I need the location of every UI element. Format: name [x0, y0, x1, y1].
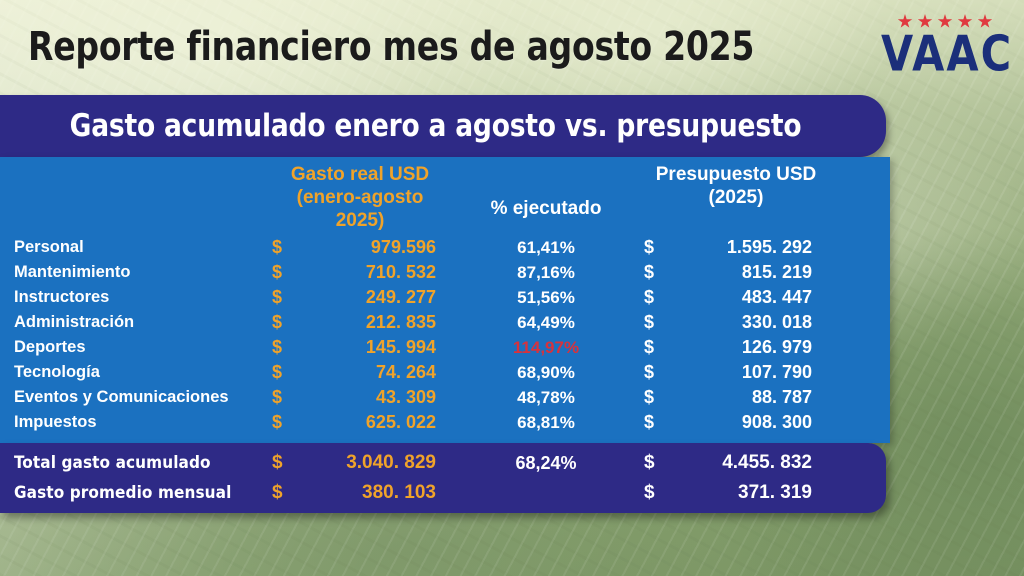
row-gasto-real: 710. 532: [306, 262, 448, 283]
row-budget-currency-symbol: $: [644, 337, 678, 358]
row-currency-symbol: $: [272, 237, 306, 258]
table-header-row: Gasto real USD (enero-agosto 2025) % eje…: [0, 157, 890, 233]
row-currency-symbol: $: [272, 387, 306, 408]
column-header-presupuesto-line1: Presupuesto USD: [644, 163, 828, 186]
totals-presupuesto: 4.455. 832: [678, 452, 828, 474]
totals-label: Total gasto acumulado: [0, 453, 272, 473]
row-presupuesto: 483. 447: [678, 287, 828, 308]
column-header-gasto-real: Gasto real USD (enero-agosto 2025): [272, 163, 448, 232]
row-currency-symbol: $: [272, 337, 306, 358]
totals-budget-currency-symbol: $: [644, 482, 678, 504]
table-body: Personal$979.59661,41%$1.595. 292Manteni…: [0, 233, 890, 435]
row-presupuesto: 126. 979: [678, 337, 828, 358]
logo-wordmark: VAAC: [881, 30, 1009, 79]
row-gasto-real: 625. 022: [306, 412, 448, 433]
row-gasto-real: 979.596: [306, 237, 448, 258]
row-category: Eventos y Comunicaciones: [0, 388, 272, 407]
table-row: Administración$212. 83564,49%$330. 018: [0, 310, 890, 335]
row-gasto-real: 249. 277: [306, 287, 448, 308]
vaac-logo: VAAC: [884, 14, 1006, 74]
row-currency-symbol: $: [272, 412, 306, 433]
row-percent: 114,97%: [448, 338, 644, 358]
table-row: Tecnología$74. 26468,90%$107. 790: [0, 360, 890, 385]
row-percent: 87,16%: [448, 263, 644, 283]
row-currency-symbol: $: [272, 287, 306, 308]
totals-band: Total gasto acumulado$3.040. 82968,24%$4…: [0, 443, 886, 513]
page-title: Reporte financiero mes de agosto 2025: [28, 24, 754, 70]
subtitle-band: Gasto acumulado enero a agosto vs. presu…: [0, 95, 886, 157]
table-row: Instructores$249. 27751,56%$483. 447: [0, 285, 890, 310]
row-gasto-real: 212. 835: [306, 312, 448, 333]
row-percent: 48,78%: [448, 388, 644, 408]
row-budget-currency-symbol: $: [644, 362, 678, 383]
row-presupuesto: 88. 787: [678, 387, 828, 408]
row-presupuesto: 330. 018: [678, 312, 828, 333]
row-budget-currency-symbol: $: [644, 312, 678, 333]
row-percent: 51,56%: [448, 288, 644, 308]
row-presupuesto: 1.595. 292: [678, 237, 828, 258]
totals-gasto-real: 3.040. 829: [306, 452, 448, 474]
row-percent: 64,49%: [448, 313, 644, 333]
row-currency-symbol: $: [272, 362, 306, 383]
row-budget-currency-symbol: $: [644, 237, 678, 258]
table-row: Impuestos$625. 02268,81%$908. 300: [0, 410, 890, 435]
totals-percent: 68,24%: [448, 453, 644, 474]
totals-gasto-real: 380. 103: [306, 482, 448, 504]
column-header-percent: % ejecutado: [448, 197, 644, 220]
row-presupuesto: 908. 300: [678, 412, 828, 433]
totals-currency-symbol: $: [272, 482, 306, 504]
row-percent: 68,81%: [448, 413, 644, 433]
column-header-gasto-real-line2: (enero-agosto 2025): [272, 186, 448, 232]
row-category: Personal: [0, 238, 272, 257]
table-row: Eventos y Comunicaciones$43. 30948,78%$8…: [0, 385, 890, 410]
row-presupuesto: 815. 219: [678, 262, 828, 283]
totals-budget-currency-symbol: $: [644, 452, 678, 474]
totals-presupuesto: 371. 319: [678, 482, 828, 504]
row-currency-symbol: $: [272, 262, 306, 283]
row-category: Tecnología: [0, 363, 272, 382]
row-budget-currency-symbol: $: [644, 262, 678, 283]
column-header-presupuesto: Presupuesto USD (2025): [644, 163, 828, 209]
row-percent: 68,90%: [448, 363, 644, 383]
row-gasto-real: 145. 994: [306, 337, 448, 358]
row-category: Impuestos: [0, 413, 272, 432]
column-header-gasto-real-line1: Gasto real USD: [272, 163, 448, 186]
subtitle-text: Gasto acumulado enero a agosto vs. presu…: [70, 108, 817, 144]
row-percent: 61,41%: [448, 238, 644, 258]
row-category: Deportes: [0, 338, 272, 357]
expense-table: Gasto real USD (enero-agosto 2025) % eje…: [0, 157, 890, 443]
row-category: Mantenimiento: [0, 263, 272, 282]
table-row: Mantenimiento$710. 53287,16%$815. 219: [0, 260, 890, 285]
row-budget-currency-symbol: $: [644, 387, 678, 408]
header: Reporte financiero mes de agosto 2025 VA…: [0, 0, 1024, 95]
row-category: Instructores: [0, 288, 272, 307]
row-gasto-real: 74. 264: [306, 362, 448, 383]
row-gasto-real: 43. 309: [306, 387, 448, 408]
row-budget-currency-symbol: $: [644, 412, 678, 433]
totals-row: Total gasto acumulado$3.040. 82968,24%$4…: [0, 448, 886, 478]
column-header-presupuesto-line2: (2025): [644, 186, 828, 209]
table-row: Deportes$145. 994114,97%$126. 979: [0, 335, 890, 360]
row-currency-symbol: $: [272, 312, 306, 333]
row-presupuesto: 107. 790: [678, 362, 828, 383]
table-row: Personal$979.59661,41%$1.595. 292: [0, 235, 890, 260]
row-category: Administración: [0, 313, 272, 332]
totals-label: Gasto promedio mensual: [0, 483, 272, 503]
totals-row: Gasto promedio mensual$380. 103$371. 319: [0, 478, 886, 508]
row-budget-currency-symbol: $: [644, 287, 678, 308]
totals-currency-symbol: $: [272, 452, 306, 474]
